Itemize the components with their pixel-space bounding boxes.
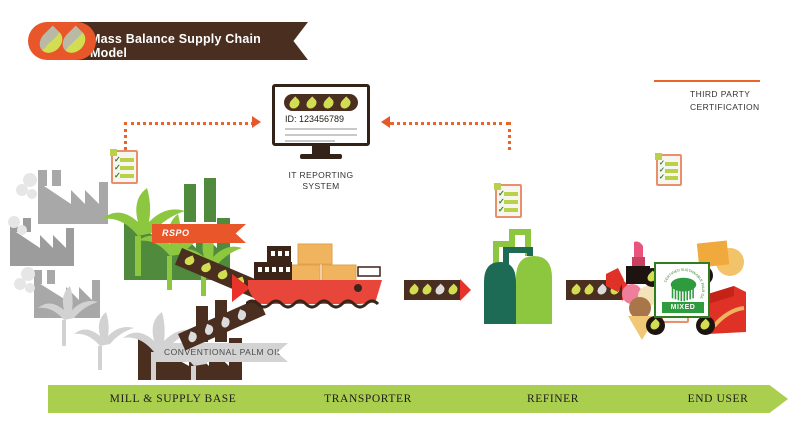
certificate-check-icon: ✓ [659,160,665,167]
connector-right-horizontal [390,122,510,125]
connector-left-vertical [124,122,127,150]
it-reporting-monitor-icon: ID: 123456789 [272,84,370,162]
certificate-row [120,158,134,162]
badge-droplet-icon [649,319,662,332]
certificate-row [665,176,678,180]
stage-transporter: TRANSPORTER [263,385,473,413]
background-smoke-icon [16,173,37,199]
stage-end-user: END USER [618,385,800,413]
page-title: Mass Balance Supply Chain Model [90,32,290,60]
certificate-check-icon: ✓ [498,206,505,214]
background-factory-icon [10,218,74,266]
third-party-label-line1: THIRD PARTY [690,88,800,101]
third-party-label-line2: CERTIFICATION [690,101,800,114]
certificate-row [504,208,518,212]
background-palm-icon [74,312,134,370]
monitor-screen: ID: 123456789 [272,84,370,146]
monitor-base [300,154,342,159]
conveyor-droplet-icon [200,262,212,273]
refinery-tanks-icon [478,222,558,326]
refiner-certificate-icon: ✓ ✓ ✓ [495,184,522,218]
connector-right-arrowhead-icon [381,116,390,128]
ship-container [298,244,332,264]
product-accent-icon [604,266,624,294]
rspo-mixed-label: MIXED [662,302,704,313]
connector-left-arrowhead-icon [252,116,261,128]
ship-bow-rail [358,267,380,276]
refinery-tank-light [516,256,552,324]
monitor-droplet-icon [304,96,318,110]
conveyor-droplet-icon [204,324,215,336]
rspo-palm-icon [671,278,696,302]
refinery-tank-dark [484,262,516,324]
monitor-id-text: ID: 123456789 [285,114,344,124]
stage-mill-supply-base: MILL & SUPPLY BASE [58,385,288,413]
third-party-rule [654,80,760,82]
connector-right-vertical [508,122,511,150]
connector-left-horizontal [124,122,254,125]
third-party-label: THIRD PARTY CERTIFICATION [690,88,800,114]
conveyor-ship-to-refiner [404,280,474,300]
conveyor-droplet-icon [236,309,247,321]
monitor-droplet-icon [321,96,335,110]
ship-hull [248,280,382,304]
certificate-fold [655,153,662,160]
certificate-row [504,192,518,196]
certificate-check-icon: ✓ [659,174,665,181]
rspo-mixed-logo: CERTIFIED SUSTAINABLE PALM OIL RSPO MIXE… [654,262,710,318]
conventional-tag-label: CONVENTIONAL PALM OIL [164,347,282,357]
badge-droplet-icon [699,319,712,332]
supply-chain-stage-bar: MILL & SUPPLY BASE TRANSPORTER REFINER E… [48,385,788,413]
conveyor-droplet-icon [217,269,229,280]
logo-droplets-icon [28,22,96,60]
cargo-ship-icon [246,238,386,310]
conveyor-arrowhead-icon [460,279,471,301]
monitor-droplet-icon [287,96,301,110]
product-droplet-badge-icon [646,316,665,335]
monitor-text-line [285,128,357,130]
background-smoke-icon [14,267,35,293]
header-ribbon: Mass Balance Supply Chain Model [28,22,308,60]
conveyor-droplet-icon [183,255,195,266]
conveyor-droplet-icon [187,331,198,343]
background-factory-icon [38,170,108,224]
certificate-check-icon: ✓ [659,167,665,174]
conveyor-droplet-icon [220,317,231,329]
certificate-row [665,169,678,173]
ship-porthole [354,284,362,292]
monitor-droplet-icon [338,96,352,110]
monitor-droplet-bar [284,94,358,111]
monitor-text-line [285,140,335,142]
end-user-products: CERTIFIED SUSTAINABLE PALM OIL RSPO MIXE… [618,240,748,340]
certificate-row [665,162,678,166]
logo-droplet-right-icon [58,26,90,58]
product-droplet-badge-icon [696,316,715,335]
monitor-text-line [285,134,357,136]
certificate-row [504,200,518,204]
rspo-certified-tag: RSPO CERTIFIED [152,224,246,243]
rspo-tag-brand: RSPO [162,228,190,238]
third-party-certificate-icon: ✓ ✓ ✓ [656,154,682,186]
conventional-palm-oil-tag: CONVENTIONAL PALM OIL [154,343,288,362]
